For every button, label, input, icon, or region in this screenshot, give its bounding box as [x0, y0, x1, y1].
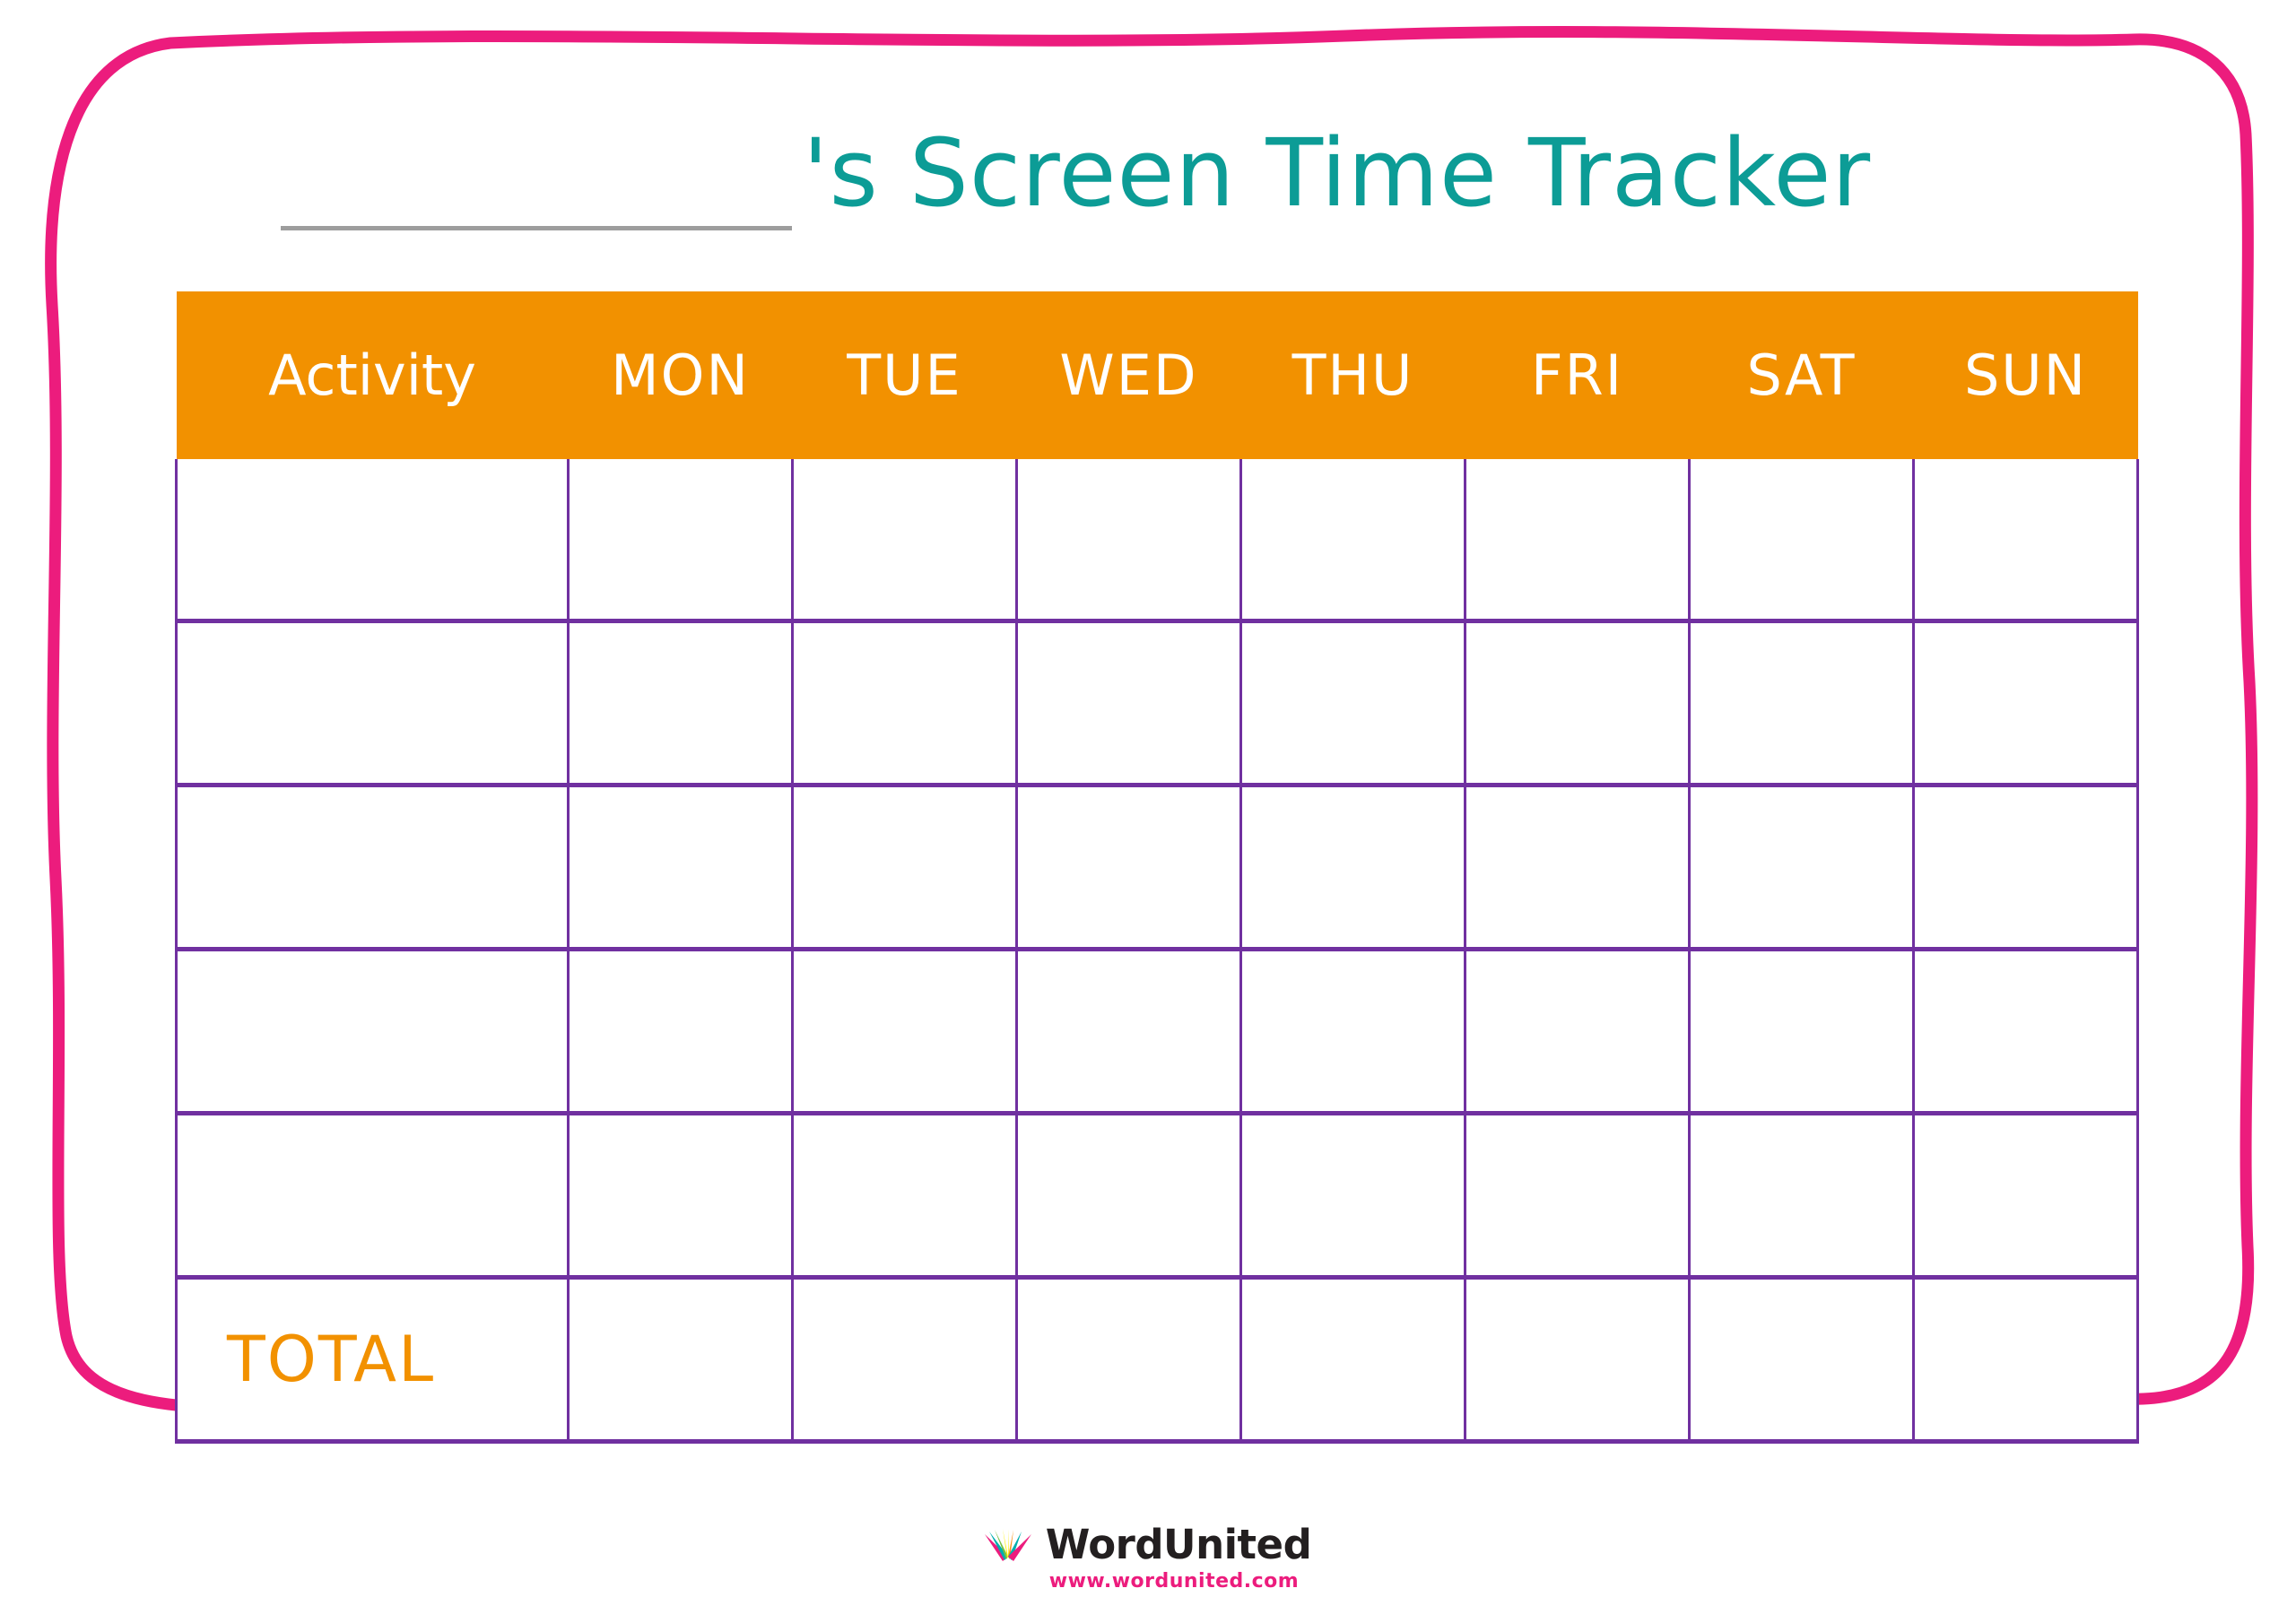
cell-mon[interactable] [569, 950, 793, 1114]
total-cell-mon[interactable] [569, 1278, 793, 1442]
column-header-tue: TUE [793, 291, 1017, 459]
cell-fri[interactable] [1465, 950, 1690, 1114]
total-label: TOTAL [177, 1278, 569, 1442]
total-cell-sat[interactable] [1690, 1278, 1914, 1442]
cell-sat[interactable] [1690, 621, 1914, 785]
cell-mon[interactable] [569, 1114, 793, 1278]
cell-activity[interactable] [177, 785, 569, 950]
cell-sun[interactable] [1914, 950, 2138, 1114]
total-cell-tue[interactable] [793, 1278, 1017, 1442]
column-header-activity: Activity [177, 291, 569, 459]
cell-wed[interactable] [1017, 950, 1241, 1114]
column-header-sun: SUN [1914, 291, 2138, 459]
cell-fri[interactable] [1465, 785, 1690, 950]
cell-sat[interactable] [1690, 950, 1914, 1114]
cell-thu[interactable] [1241, 950, 1465, 1114]
total-cell-thu[interactable] [1241, 1278, 1465, 1442]
cell-thu[interactable] [1241, 621, 1465, 785]
cell-tue[interactable] [793, 950, 1017, 1114]
cell-activity[interactable] [177, 621, 569, 785]
cell-wed[interactable] [1017, 1114, 1241, 1278]
page-title: 's Screen Time Tracker [175, 106, 2139, 249]
table-row [177, 621, 2138, 785]
screen-time-tracker-table: Activity MON TUE WED THU FRI SAT SUN [175, 291, 2139, 1444]
column-header-mon: MON [569, 291, 793, 459]
cell-mon[interactable] [569, 785, 793, 950]
cell-mon[interactable] [569, 621, 793, 785]
table-row [177, 459, 2138, 621]
cell-sun[interactable] [1914, 785, 2138, 950]
cell-sun[interactable] [1914, 1114, 2138, 1278]
cell-activity[interactable] [177, 459, 569, 621]
cell-sun[interactable] [1914, 459, 2138, 621]
column-header-fri: FRI [1465, 291, 1690, 459]
column-header-thu: THU [1241, 291, 1465, 459]
cell-thu[interactable] [1241, 459, 1465, 621]
table-total-row: TOTAL [177, 1278, 2138, 1442]
cell-thu[interactable] [1241, 1114, 1465, 1278]
cell-sun[interactable] [1914, 621, 2138, 785]
cell-activity[interactable] [177, 1114, 569, 1278]
brand-url[interactable]: www.wordunited.com [1049, 1570, 1299, 1593]
brand-name: WordUnited [1046, 1524, 1312, 1565]
cell-fri[interactable] [1465, 621, 1690, 785]
cell-wed[interactable] [1017, 621, 1241, 785]
footer-branding: WordUnited www.wordunited.com [0, 1524, 2296, 1623]
column-header-wed: WED [1017, 291, 1241, 459]
column-header-sat: SAT [1690, 291, 1914, 459]
total-cell-sun[interactable] [1914, 1278, 2138, 1442]
total-cell-fri[interactable] [1465, 1278, 1690, 1442]
table-body: TOTAL [177, 459, 2138, 1442]
cell-tue[interactable] [793, 459, 1017, 621]
cell-thu[interactable] [1241, 785, 1465, 950]
table-row [177, 1114, 2138, 1278]
total-cell-wed[interactable] [1017, 1278, 1241, 1442]
open-book-fan-icon [985, 1527, 1031, 1563]
table-row [177, 950, 2138, 1114]
logo-row: WordUnited [985, 1524, 1312, 1565]
page-title-text: 's Screen Time Tracker [803, 106, 2139, 249]
cell-sat[interactable] [1690, 459, 1914, 621]
cell-fri[interactable] [1465, 459, 1690, 621]
cell-mon[interactable] [569, 459, 793, 621]
cell-tue[interactable] [793, 1114, 1017, 1278]
cell-activity[interactable] [177, 950, 569, 1114]
cell-sat[interactable] [1690, 785, 1914, 950]
cell-sat[interactable] [1690, 1114, 1914, 1278]
table-header: Activity MON TUE WED THU FRI SAT SUN [177, 291, 2138, 459]
cell-tue[interactable] [793, 785, 1017, 950]
table-header-row: Activity MON TUE WED THU FRI SAT SUN [177, 291, 2138, 459]
cell-wed[interactable] [1017, 785, 1241, 950]
worksheet: 's Screen Time Tracker Activity MON TUE … [0, 0, 2296, 1623]
cell-tue[interactable] [793, 621, 1017, 785]
cell-fri[interactable] [1465, 1114, 1690, 1278]
name-write-in-line[interactable] [281, 226, 792, 230]
table-row [177, 785, 2138, 950]
cell-wed[interactable] [1017, 459, 1241, 621]
